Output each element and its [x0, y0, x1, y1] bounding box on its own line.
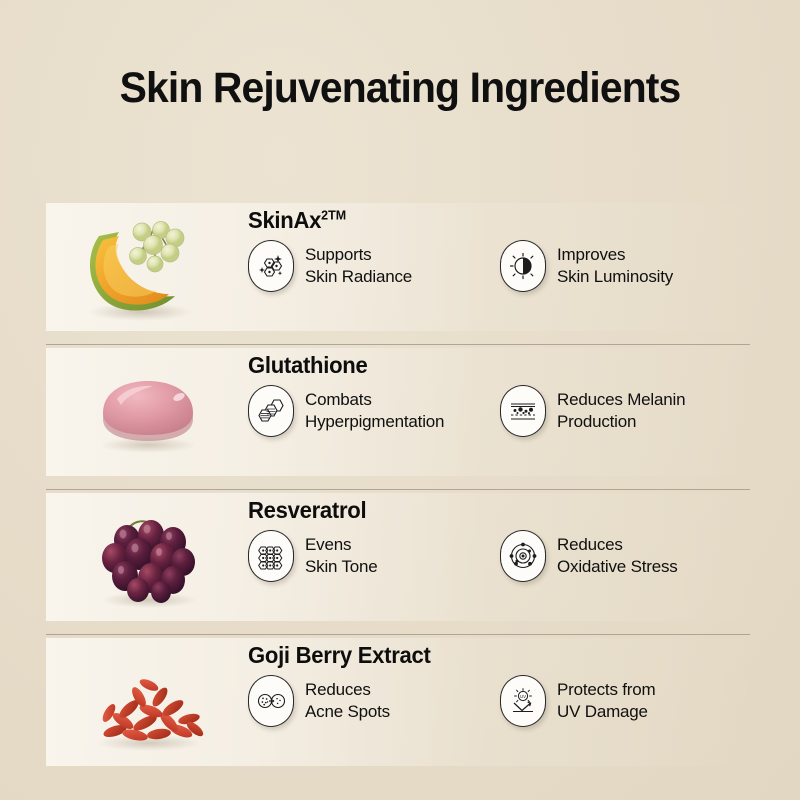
ingredient-body: Glutathione	[248, 352, 768, 437]
benefit-text: Reduces Acne Spots	[305, 679, 390, 722]
svg-text:UV: UV	[520, 694, 526, 699]
benefit-item: Reduces Melanin Production	[500, 385, 685, 437]
ingredient-row: Glutathione	[0, 348, 800, 493]
skin-cells-sparkle-icon	[248, 240, 294, 292]
ingredient-name-text: Glutathione	[248, 352, 368, 378]
row-divider	[46, 344, 750, 345]
row-divider	[46, 489, 750, 490]
uv-sun-shield-icon: UV	[500, 675, 546, 727]
ingredient-row: Goji Berry Extract	[0, 638, 800, 783]
benefit-text: Combats Hyperpigmentation	[305, 389, 444, 432]
benefit-text: Supports Skin Radiance	[305, 244, 412, 287]
ingredient-name: Goji Berry Extract	[248, 642, 747, 669]
benefit-text: Evens Skin Tone	[305, 534, 378, 577]
ingredient-body: Resveratrol	[248, 497, 768, 582]
benefit-item: UV	[500, 675, 655, 727]
ingredient-body: SkinAx2TM	[248, 207, 768, 292]
benefit-item: Reduces Oxidative Stress	[500, 530, 678, 582]
pink-gel-capsule-image	[58, 354, 238, 472]
ingredient-body: Goji Berry Extract	[248, 642, 768, 727]
row-divider	[46, 634, 750, 635]
benefit-item: Evens Skin Tone	[248, 530, 500, 582]
atom-oxidative-stress-icon	[500, 530, 546, 582]
benefit-text: Reduces Oxidative Stress	[557, 534, 678, 577]
ingredient-name-text: Resveratrol	[248, 497, 366, 523]
goji-berries-image	[58, 644, 238, 762]
benefit-list: Supports Skin Radiance	[248, 240, 768, 292]
melon-and-grapes-image	[58, 209, 238, 327]
benefit-list: Reduces Acne Spots UV	[248, 675, 768, 727]
ingredient-name-text: Goji Berry Extract	[248, 642, 431, 668]
benefit-item: Combats Hyperpigmentation	[248, 385, 500, 437]
brightness-half-circle-icon	[500, 240, 546, 292]
page-title: Skin Rejuvenating Ingredients	[20, 64, 780, 113]
benefit-list: Combats Hyperpigmentation	[248, 385, 768, 437]
overlapping-hexagons-pigment-icon	[248, 385, 294, 437]
melanin-layers-dots-icon	[500, 385, 546, 437]
ingredient-name-superscript: 2TM	[321, 207, 346, 222]
ingredient-name: Resveratrol	[248, 497, 747, 524]
ingredient-row: Resveratrol	[0, 493, 800, 638]
ingredient-name: Glutathione	[248, 352, 747, 379]
ingredient-row: SkinAx2TM	[0, 203, 800, 348]
ingredient-name: SkinAx2TM	[248, 207, 747, 234]
acne-spots-reduction-icon	[248, 675, 294, 727]
benefit-text: Improves Skin Luminosity	[557, 244, 673, 287]
benefit-item: Supports Skin Radiance	[248, 240, 500, 292]
benefit-list: Evens Skin Tone	[248, 530, 768, 582]
benefit-text: Reduces Melanin Production	[557, 389, 685, 432]
benefit-text: Protects from UV Damage	[557, 679, 655, 722]
benefit-item: Improves Skin Luminosity	[500, 240, 673, 292]
ingredient-name-text: SkinAx	[248, 207, 321, 233]
ingredient-list: SkinAx2TM	[0, 203, 800, 783]
honeycomb-skin-tone-icon	[248, 530, 294, 582]
benefit-item: Reduces Acne Spots	[248, 675, 500, 727]
purple-grapes-image	[58, 499, 238, 617]
